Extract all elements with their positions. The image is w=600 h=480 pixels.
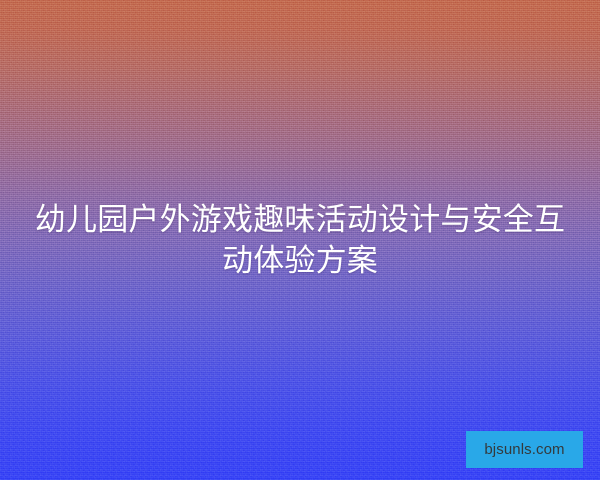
- page-title: 幼儿园户外游戏趣味活动设计与安全互动体验方案: [27, 199, 573, 281]
- watermark-badge: bjsunls.com: [466, 431, 583, 468]
- poster-canvas: 幼儿园户外游戏趣味活动设计与安全互动体验方案 bjsunls.com: [0, 0, 600, 480]
- title-block: 幼儿园户外游戏趣味活动设计与安全互动体验方案: [0, 0, 600, 480]
- watermark-label: bjsunls.com: [484, 442, 564, 458]
